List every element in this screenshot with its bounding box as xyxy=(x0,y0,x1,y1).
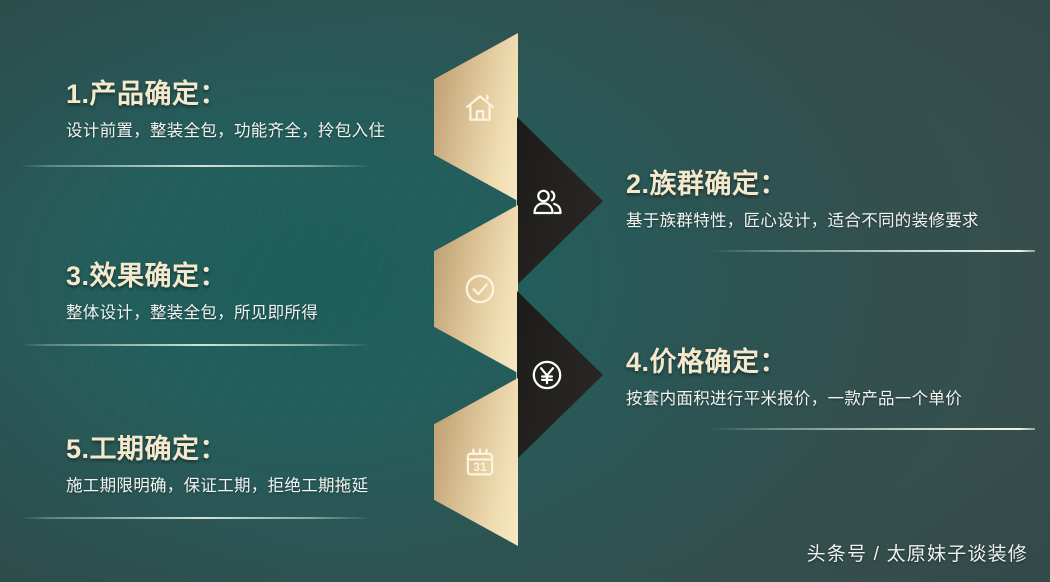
divider-step-4 xyxy=(710,428,1035,430)
step-3-title: 3.效果确定： xyxy=(66,262,446,290)
step-2-description: 基于族群特性，匠心设计，适合不同的装修要求 xyxy=(626,207,1026,231)
step-5-description: 施工期限明确，保证工期，拒绝工期拖延 xyxy=(66,472,446,496)
check-circle-icon xyxy=(463,272,497,306)
divider-step-3 xyxy=(20,344,372,346)
step-3-text-block: 3.效果确定： 整体设计，整装全包，所见即所得 xyxy=(66,262,446,323)
chevron-step-2 xyxy=(517,117,603,285)
credit-byline: 头条号 / 太原妹子谈装修 xyxy=(807,539,1028,566)
infographic-canvas: 31 1.产品确定： 设计前置，整装全包，功能齐全，拎包入住 2.族群确定： 基… xyxy=(0,0,1050,582)
calendar-day-label: 31 xyxy=(473,460,487,474)
chevron-center-line xyxy=(516,33,518,543)
chevron-step-4 xyxy=(517,291,603,459)
calendar-31-icon: 31 xyxy=(463,445,497,479)
divider-step-2 xyxy=(710,250,1035,252)
chevron-step-1 xyxy=(434,33,518,201)
step-4-description: 按套内面积进行平米报价，一款产品一个单价 xyxy=(626,385,1026,409)
chevron-step-5: 31 xyxy=(434,378,518,546)
step-4-title: 4.价格确定： xyxy=(626,348,1026,376)
divider-step-1 xyxy=(20,165,372,167)
chevron-step-3 xyxy=(434,205,518,373)
divider-step-5 xyxy=(20,517,372,519)
step-4-text-block: 4.价格确定： 按套内面积进行平米报价，一款产品一个单价 xyxy=(626,348,1026,409)
step-2-title: 2.族群确定： xyxy=(626,170,1026,198)
step-3-description: 整体设计，整装全包，所见即所得 xyxy=(66,299,446,323)
step-1-title: 1.产品确定： xyxy=(66,80,446,108)
step-5-title: 5.工期确定： xyxy=(66,435,446,463)
step-5-text-block: 5.工期确定： 施工期限明确，保证工期，拒绝工期拖延 xyxy=(66,435,446,496)
users-group-icon xyxy=(530,184,564,218)
step-1-description: 设计前置，整装全包，功能齐全，拎包入住 xyxy=(66,117,446,141)
step-2-text-block: 2.族群确定： 基于族群特性，匠心设计，适合不同的装修要求 xyxy=(626,170,1026,231)
home-icon xyxy=(463,91,497,125)
yen-circle-icon xyxy=(530,358,564,392)
step-1-text-block: 1.产品确定： 设计前置，整装全包，功能齐全，拎包入住 xyxy=(66,80,446,141)
